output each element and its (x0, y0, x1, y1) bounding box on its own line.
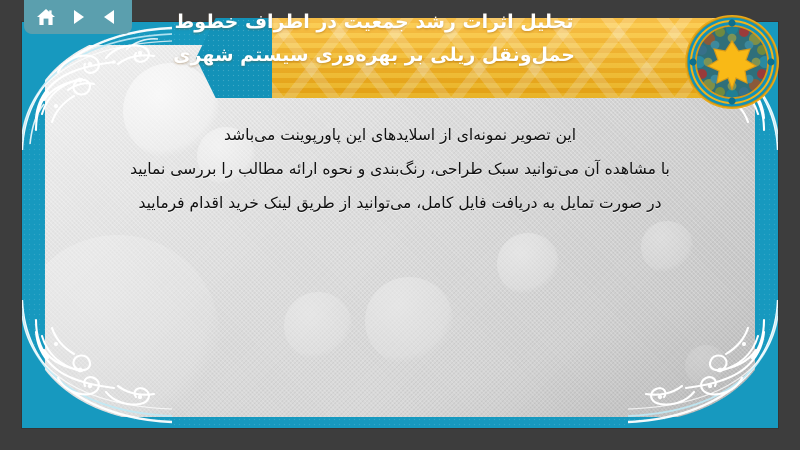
home-button[interactable] (33, 4, 59, 30)
slide-navigation-bar[interactable] (24, 0, 132, 34)
body-line-3: در صورت تمایل به دریافت فایل کامل، می‌تو… (0, 186, 800, 220)
slide-content-panel (45, 45, 755, 417)
body-line-1: این تصویر نمونه‌ای از اسلایدهای این پاور… (0, 118, 800, 152)
home-icon (35, 6, 57, 28)
persian-medallion-ornament (684, 14, 780, 110)
body-line-2: با مشاهده آن می‌توانید سبک طراحی، رنگ‌بن… (0, 152, 800, 186)
forward-button[interactable] (65, 4, 91, 30)
back-button[interactable] (97, 4, 123, 30)
title-line-2: حمل‌ونقل ریلی بر بهره‌وری سیستم شهری (0, 39, 748, 72)
slide-stage: این تصویر نمونه‌ای از اسلایدهای این پاور… (0, 0, 800, 450)
slide-body-text: این تصویر نمونه‌ای از اسلایدهای این پاور… (0, 118, 800, 220)
back-triangle-icon (100, 7, 120, 27)
forward-triangle-icon (68, 7, 88, 27)
panel-vignette (45, 45, 755, 417)
